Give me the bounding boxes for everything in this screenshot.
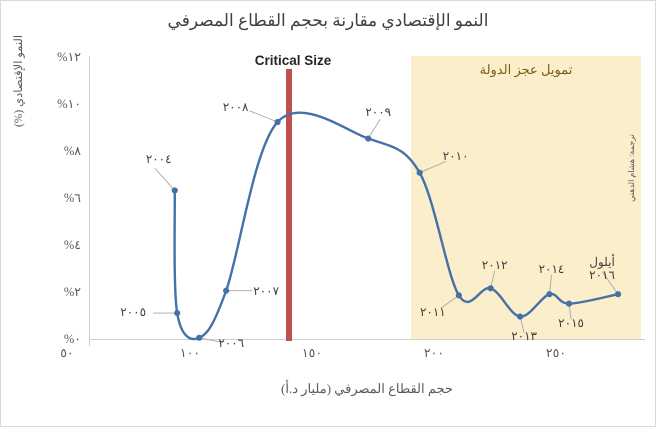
data-point-label: ٢٠٠٦ (203, 336, 259, 351)
data-point-label: ٢٠٠٧ (238, 284, 294, 299)
data-point-label: ٢٠٠٤ (131, 152, 187, 167)
y-axis-line (89, 56, 90, 346)
right-side-note: ترجمة: هشام الدهني (627, 103, 636, 233)
data-point-label: ٢٠١٣ (496, 329, 552, 344)
data-point-label: ٢٠١٤ (523, 262, 579, 277)
y-tick-6: ٦% (15, 190, 81, 206)
critical-size-label: Critical Size (233, 53, 353, 68)
y-axis-title: النمو الإقتصادي (%) (11, 11, 25, 151)
x-tick-50: ٥٠ (45, 345, 89, 361)
chart-title: النمو الإقتصادي مقارنة بحجم القطاع المصر… (1, 11, 655, 31)
deficit-financing-band: تمويل عجز الدولة (411, 56, 641, 339)
data-point-label: ٢٠٠٥ (105, 305, 161, 320)
x-axis-line (89, 339, 645, 340)
data-point-label: ٢٠١٠ (428, 149, 484, 164)
x-axis-title: حجم القطاع المصرفي (مليار د.أ) (89, 381, 645, 397)
data-point-label: ٢٠٠٩ (350, 105, 406, 120)
data-point-label: ٢٠٠٨ (208, 100, 264, 115)
data-point-label: ٢٠١٥ (543, 316, 599, 331)
data-point-label: ٢٠١١ (405, 305, 461, 320)
x-tick-150: ١٥٠ (290, 345, 334, 361)
plot-area: تمويل عجز الدولة (89, 56, 641, 339)
critical-size-line (286, 69, 292, 341)
x-tick-250: ٢٥٠ (534, 345, 578, 361)
y-tick-2: ٢% (15, 284, 81, 300)
data-point-label: ٢٠١٢ (467, 258, 523, 273)
x-tick-200: ٢٠٠ (412, 345, 456, 361)
deficit-financing-band-label: تمويل عجز الدولة (411, 62, 641, 78)
y-tick-4: ٤% (15, 237, 81, 253)
chart-container: النمو الإقتصادي مقارنة بحجم القطاع المصر… (0, 0, 656, 427)
data-point-label: أيلول٢٠١٦ (574, 256, 630, 281)
